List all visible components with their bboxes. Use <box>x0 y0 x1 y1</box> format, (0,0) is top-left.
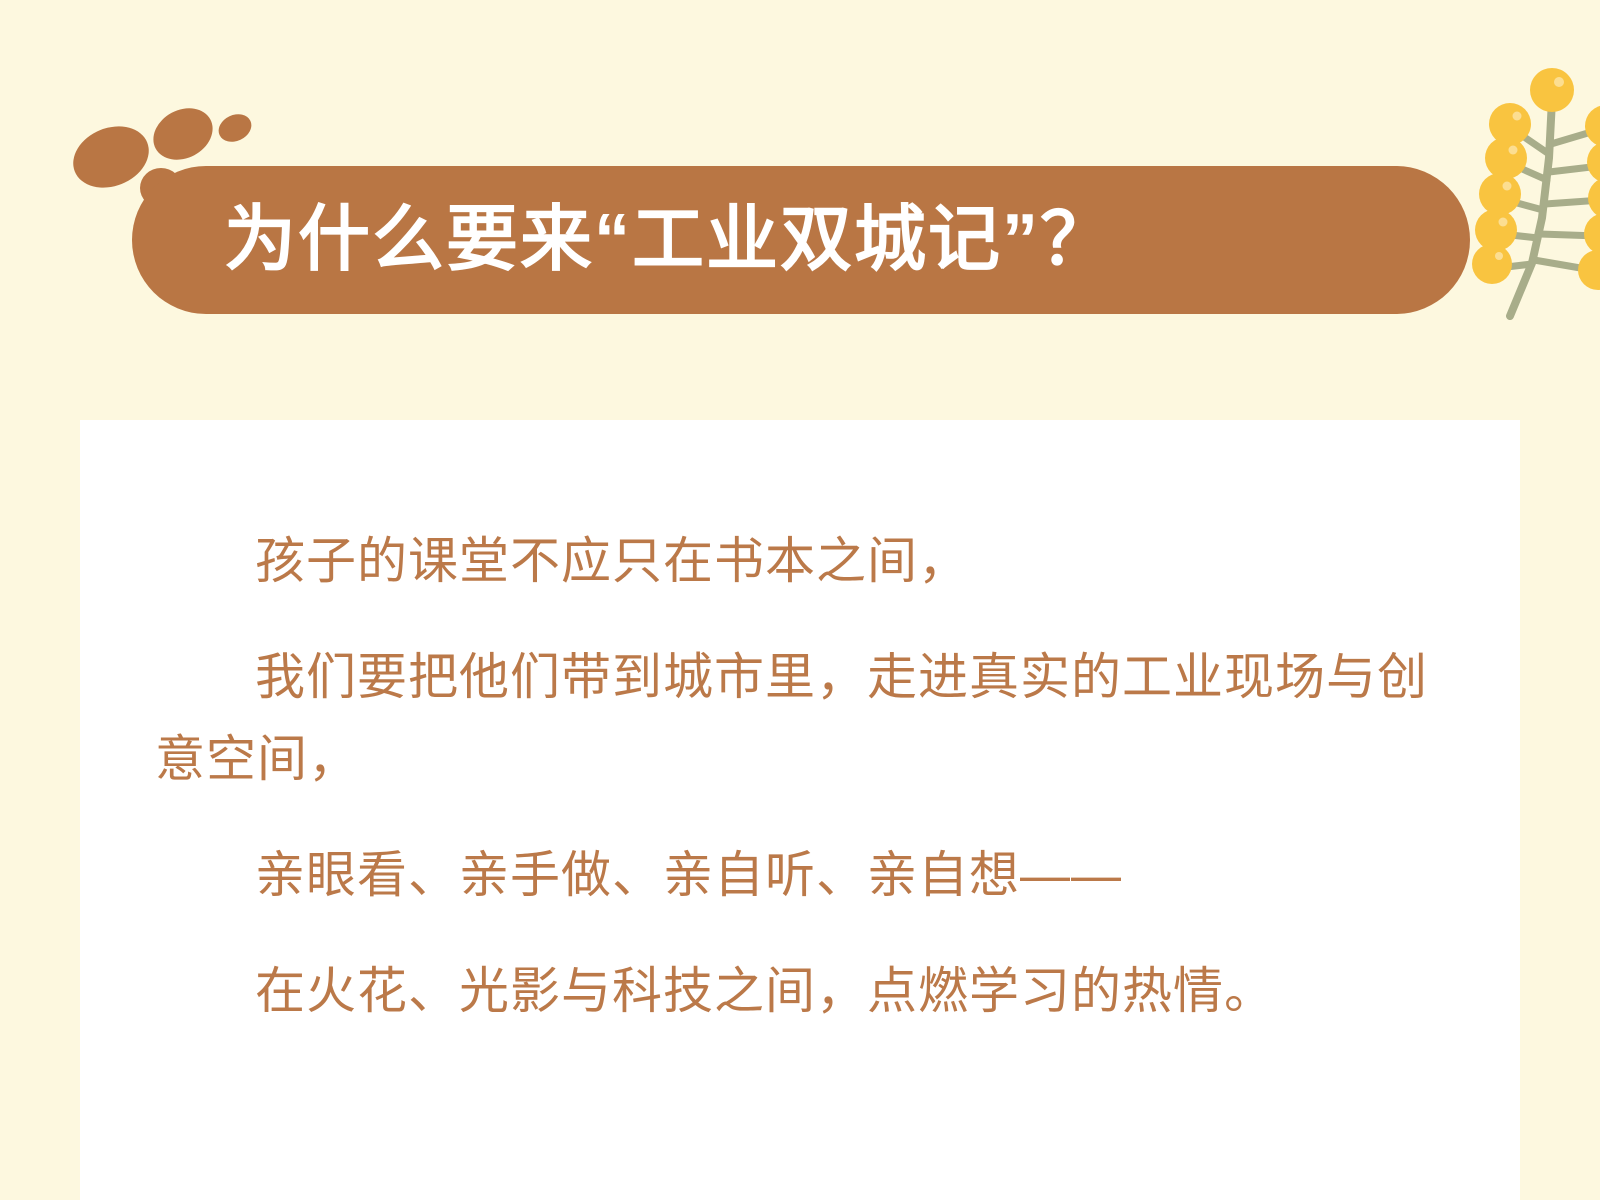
sprig-decoration <box>1448 58 1600 328</box>
poster-canvas: 为什么要来“工业双城记”？ <box>0 0 1600 1200</box>
decorative-dot-medium <box>144 98 221 169</box>
paragraph-2-cont: 在火花、光影与科技之间，点燃学习的热情。 <box>155 950 1445 1032</box>
body-copy: 孩子的课堂不应只在书本之间， 我们要把他们带到城市里，走进真实的工业现场与创意空… <box>155 520 1445 1032</box>
page-title: 为什么要来“工业双城记”？ <box>224 204 1114 276</box>
paragraph-1: 孩子的课堂不应只在书本之间， <box>155 520 1445 602</box>
decorative-dot-small <box>214 109 256 147</box>
paragraph-1-line-2: 我们要把他们带到城市里，走进真实的工业现场与创意空间， <box>155 636 1445 800</box>
paragraph-1-line-1: 孩子的课堂不应只在书本之间， <box>155 520 1445 602</box>
paragraph-2-line-1: 亲眼看、亲手做、亲自听、亲自想—— <box>155 834 1445 916</box>
paragraph-1-cont: 我们要把他们带到城市里，走进真实的工业现场与创意空间， <box>155 636 1445 800</box>
title-banner: 为什么要来“工业双城记”？ <box>132 166 1470 314</box>
content-panel: 孩子的课堂不应只在书本之间， 我们要把他们带到城市里，走进真实的工业现场与创意空… <box>80 420 1520 1200</box>
paragraph-2-line-2: 在火花、光影与科技之间，点燃学习的热情。 <box>155 950 1445 1032</box>
paragraph-2: 亲眼看、亲手做、亲自听、亲自想—— <box>155 834 1445 916</box>
